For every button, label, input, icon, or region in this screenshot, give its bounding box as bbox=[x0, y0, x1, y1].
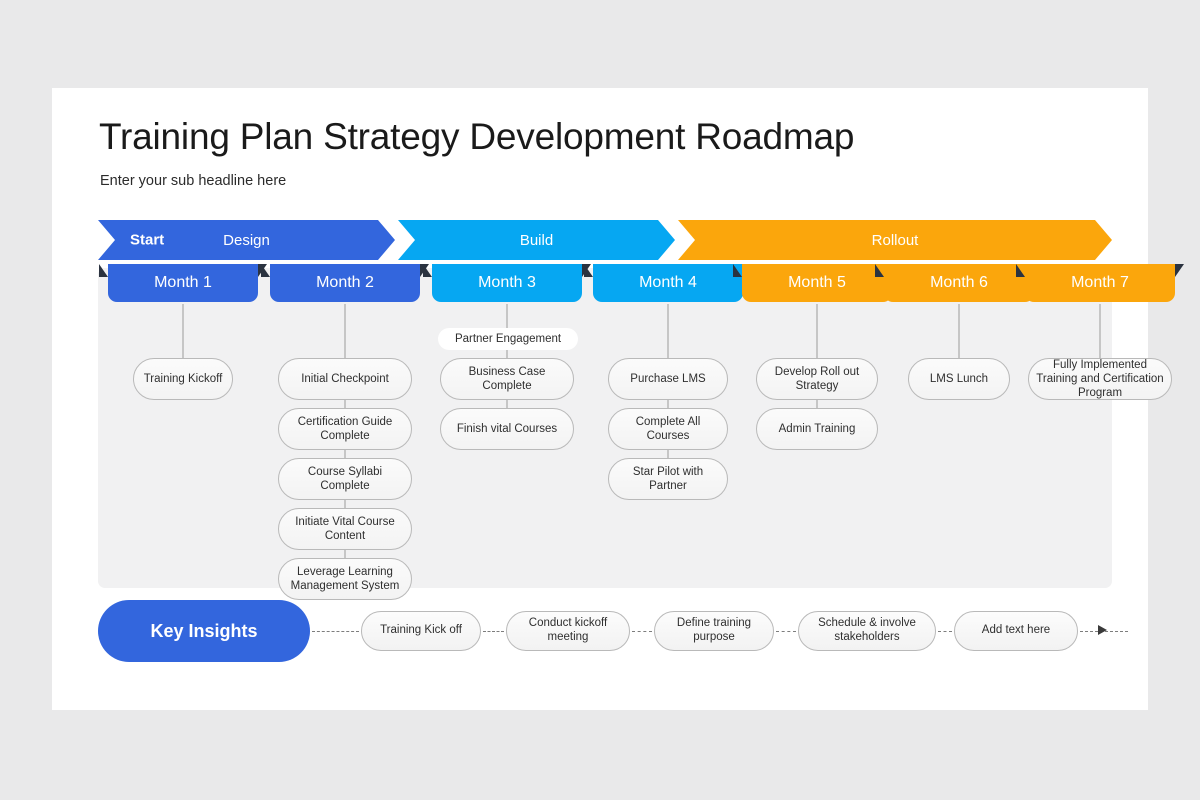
month-tab-label: Month 6 bbox=[930, 274, 988, 292]
connector-line bbox=[817, 304, 818, 358]
dashed-connector bbox=[776, 631, 796, 632]
month-tab-4[interactable]: Month 4 bbox=[593, 264, 743, 302]
month-tab-row: Month 1Month 2Month 3Month 4Month 5Month… bbox=[98, 264, 1112, 304]
connector-line bbox=[668, 304, 669, 358]
milestone-pill[interactable]: Purchase LMS bbox=[608, 358, 728, 400]
connector-line bbox=[345, 400, 346, 408]
month-tab-label: Month 2 bbox=[316, 274, 374, 292]
partner-engagement-tag[interactable]: Partner Engagement bbox=[438, 328, 578, 350]
milestone-columns: Training KickoffInitial CheckpointCertif… bbox=[98, 304, 1112, 594]
dashed-connector bbox=[938, 631, 952, 632]
month-tab-label: Month 5 bbox=[788, 274, 846, 292]
connector-line bbox=[1100, 304, 1101, 358]
dashed-connector bbox=[312, 631, 359, 632]
milestone-pill[interactable]: Finish vital Courses bbox=[440, 408, 574, 450]
page-subtitle: Enter your sub headline here bbox=[100, 173, 286, 189]
month-tab-7[interactable]: Month 7 bbox=[1025, 264, 1175, 302]
milestone-pill[interactable]: LMS Lunch bbox=[908, 358, 1010, 400]
phase-label: Design bbox=[223, 232, 270, 249]
phase-banner-row: StartDesignBuildRollout bbox=[98, 220, 1112, 260]
month-tab-2[interactable]: Month 2 bbox=[270, 264, 420, 302]
key-insight-step-1[interactable]: Training Kick off bbox=[361, 611, 481, 651]
milestone-pill[interactable]: Develop Roll out Strategy bbox=[756, 358, 878, 400]
phase-label: Build bbox=[520, 232, 553, 249]
milestone-pill[interactable]: Training Kickoff bbox=[133, 358, 233, 400]
connector-line bbox=[183, 304, 184, 358]
ribbon-fold-left-icon bbox=[423, 264, 432, 277]
ribbon-fold-left-icon bbox=[584, 264, 593, 277]
dashed-connector bbox=[483, 631, 504, 632]
arrow-head-icon bbox=[1098, 625, 1107, 635]
phase-start-label: Start bbox=[130, 232, 164, 249]
connector-line bbox=[668, 400, 669, 408]
connector-line bbox=[345, 304, 346, 358]
connector-line bbox=[345, 500, 346, 508]
connector-line bbox=[345, 550, 346, 558]
milestone-pill[interactable]: Admin Training bbox=[756, 408, 878, 450]
connector-line bbox=[345, 450, 346, 458]
key-insight-step-5[interactable]: Add text here bbox=[954, 611, 1078, 651]
milestone-pill[interactable]: Initiate Vital Course Content bbox=[278, 508, 412, 550]
key-insights-button[interactable]: Key Insights bbox=[98, 600, 310, 662]
ribbon-fold-left-icon bbox=[261, 264, 270, 277]
month-tab-label: Month 1 bbox=[154, 274, 212, 292]
key-insights-row: Key Insights Training Kick offConduct ki… bbox=[98, 600, 1112, 670]
phase-banner-rollout[interactable]: Rollout bbox=[678, 220, 1112, 260]
month-tab-5[interactable]: Month 5 bbox=[742, 264, 892, 302]
milestone-pill[interactable]: Star Pilot with Partner bbox=[608, 458, 728, 500]
milestone-pill[interactable]: Certification Guide Complete bbox=[278, 408, 412, 450]
ribbon-fold-left-icon bbox=[875, 264, 884, 277]
month-tab-3[interactable]: Month 3 bbox=[432, 264, 582, 302]
month-tab-label: Month 4 bbox=[639, 274, 697, 292]
month-tab-6[interactable]: Month 6 bbox=[884, 264, 1034, 302]
ribbon-fold-right-icon bbox=[1175, 264, 1184, 277]
ribbon-fold-left-icon bbox=[99, 264, 108, 277]
page-title: Training Plan Strategy Development Roadm… bbox=[99, 116, 854, 158]
key-insight-step-2[interactable]: Conduct kickoff meeting bbox=[506, 611, 630, 651]
connector-line bbox=[507, 400, 508, 408]
milestone-pill[interactable]: Fully Implemented Training and Certifica… bbox=[1028, 358, 1172, 400]
milestone-pill[interactable]: Course Syllabi Complete bbox=[278, 458, 412, 500]
connector-line bbox=[817, 400, 818, 408]
key-insight-step-3[interactable]: Define training purpose bbox=[654, 611, 774, 651]
milestone-pill[interactable]: Leverage Learning Management System bbox=[278, 558, 412, 600]
milestone-pill[interactable]: Business Case Complete bbox=[440, 358, 574, 400]
phase-banner-build[interactable]: Build bbox=[398, 220, 675, 260]
milestone-pill[interactable]: Complete All Courses bbox=[608, 408, 728, 450]
month-tab-1[interactable]: Month 1 bbox=[108, 264, 258, 302]
connector-line bbox=[959, 304, 960, 358]
month-tab-label: Month 7 bbox=[1071, 274, 1129, 292]
milestone-pill[interactable]: Initial Checkpoint bbox=[278, 358, 412, 400]
phase-banner-design[interactable]: StartDesign bbox=[98, 220, 395, 260]
slide-canvas: Training Plan Strategy Development Roadm… bbox=[52, 88, 1148, 710]
month-tab-label: Month 3 bbox=[478, 274, 536, 292]
connector-line bbox=[668, 450, 669, 458]
phase-label: Rollout bbox=[872, 232, 919, 249]
ribbon-fold-left-icon bbox=[1016, 264, 1025, 277]
dashed-connector bbox=[632, 631, 652, 632]
ribbon-fold-left-icon bbox=[733, 264, 742, 277]
key-insight-step-4[interactable]: Schedule & involve stakeholders bbox=[798, 611, 936, 651]
